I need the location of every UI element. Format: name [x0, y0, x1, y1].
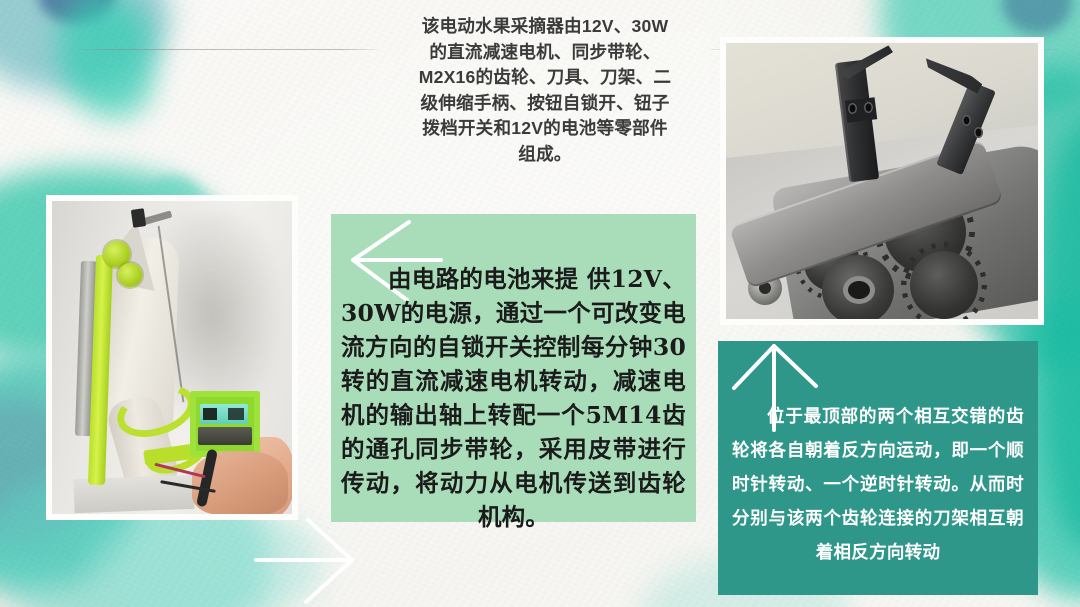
photo-right-bolt-hole-1	[848, 103, 857, 114]
top-paragraph: 该电动水果采摘器由12V、30W的直流减速电机、同步带轮、M2X16的齿轮、刀具…	[414, 14, 676, 168]
photo-right-bolt-hole-3	[962, 115, 971, 126]
photo-right-timing-pulley	[822, 255, 894, 319]
arrow-right-chevron-icon	[292, 506, 422, 607]
photo-left-battery-box	[190, 391, 260, 457]
photo-left-lcd-bars	[203, 408, 217, 420]
photo-left-gear-lower	[118, 263, 142, 287]
photo-gear-mechanism	[726, 43, 1038, 319]
photo-left-lcd-value	[228, 408, 244, 420]
slide-canvas: 该电动水果采摘器由12V、30W的直流减速电机、同步带轮、M2X16的齿轮、刀具…	[0, 0, 1080, 607]
photo-right-bolt-hole-2	[864, 102, 873, 113]
photo-right-gear-second	[910, 251, 978, 319]
panel-green-text: 由电路的电池来提 供12V、30W的电源，通过一个可改变电流方向的自锁开关控制每…	[341, 262, 686, 534]
photo-left-blade-holder	[131, 208, 146, 228]
photo-device-prototype	[52, 201, 292, 514]
panel-green-description: 由电路的电池来提 供12V、30W的电源，通过一个可改变电流方向的自锁开关控制每…	[331, 214, 696, 522]
photo-right-bolt-hole-4	[974, 127, 983, 138]
photo-left-battery-pack	[198, 427, 252, 445]
panel-teal-description: 位于最顶部的两个相互交错的齿轮将各自朝着反方向运动，即一个顺时针转动、一个逆时针…	[718, 341, 1038, 595]
panel-teal-text: 位于最顶部的两个相互交错的齿轮将各自朝着反方向运动，即一个顺时针转动、一个逆时针…	[732, 399, 1024, 569]
rule-left	[78, 49, 378, 50]
